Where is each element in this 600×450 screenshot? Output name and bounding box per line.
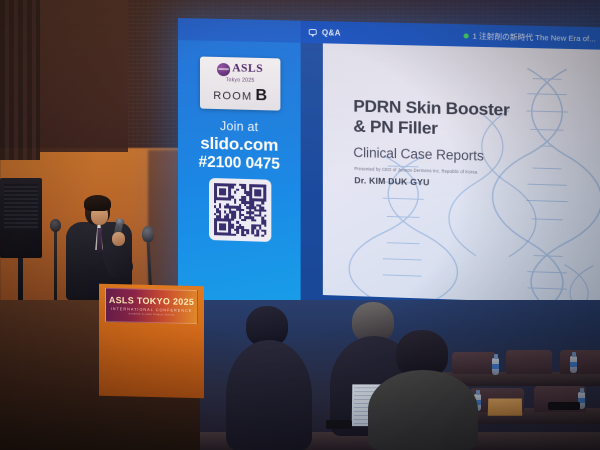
water-bottle-icon	[492, 358, 499, 375]
slido-panel: ASLS Tokyo 2025 ROOM B Join at slido.com…	[178, 40, 301, 322]
presentation-slide: PDRN Skin Booster & PN Filler Clinical C…	[323, 43, 600, 305]
bottle-label	[492, 364, 499, 369]
audience-chair	[452, 352, 496, 374]
room-letter: B	[255, 86, 267, 104]
asls-edition: Tokyo 2025	[226, 77, 255, 84]
bottle-label	[570, 362, 577, 367]
qr-code-icon[interactable]	[209, 178, 271, 242]
stand-microphone-icon	[54, 228, 57, 306]
room-label-group: ROOM B	[213, 85, 267, 104]
podium-banner: ASLS TOKYO 2025 INTERNATIONAL CONFERENCE…	[105, 288, 198, 324]
slide-title: PDRN Skin Booster & PN Filler	[353, 96, 589, 143]
room-sign-card: ASLS Tokyo 2025 ROOM B	[200, 57, 280, 111]
slide-frame: Q&A 1 注射剤の新時代 The New Era of...	[301, 21, 600, 334]
audience-chair	[560, 350, 600, 374]
attendee-body	[368, 370, 478, 450]
audience-chair	[506, 350, 552, 374]
slide-author: Dr. KIM DUK GYU	[354, 175, 429, 187]
table-name-card-icon	[488, 398, 523, 415]
water-bottle-icon	[570, 356, 577, 373]
attendee-body	[226, 340, 312, 450]
pa-speaker-grill	[4, 184, 38, 230]
speaker-hair	[84, 195, 111, 211]
projection-screen: ASLS Tokyo 2025 ROOM B Join at slido.com…	[178, 18, 600, 333]
asls-wordmark: ASLS	[232, 64, 263, 76]
asls-logo: ASLS	[217, 62, 263, 76]
asls-globe-icon	[217, 62, 230, 75]
podium: ASLS TOKYO 2025 INTERNATIONAL CONFERENCE…	[99, 284, 204, 399]
room-label-text: ROOM	[213, 89, 252, 102]
smartphone-icon	[548, 402, 580, 410]
stand-microphone-head-icon	[142, 226, 154, 242]
stage-curtain	[0, 0, 40, 160]
podium-title: ASLS TOKYO 2025	[109, 295, 194, 307]
qa-label[interactable]: Q&A	[322, 28, 341, 37]
conference-photo-scene: ASLS Tokyo 2025 ROOM B Join at slido.com…	[0, 0, 600, 450]
session-indicator: 1 注射剤の新時代 The New Era of...	[463, 30, 600, 44]
podium-subtitle: INTERNATIONAL CONFERENCE	[111, 307, 193, 313]
speaker-hand	[112, 232, 125, 246]
session-title: 1 注射剤の新時代 The New Era of...	[473, 30, 596, 44]
wall-pillar	[40, 0, 128, 152]
slido-event-code: #2100 0475	[178, 153, 301, 175]
live-status-dot-icon	[463, 33, 468, 38]
podium-fine-print: Aesthetic & Laser Surgery Society	[129, 313, 175, 317]
smartphone-icon	[326, 420, 352, 429]
speech-bubble-icon	[309, 29, 317, 35]
qr-code-matrix	[214, 183, 266, 237]
